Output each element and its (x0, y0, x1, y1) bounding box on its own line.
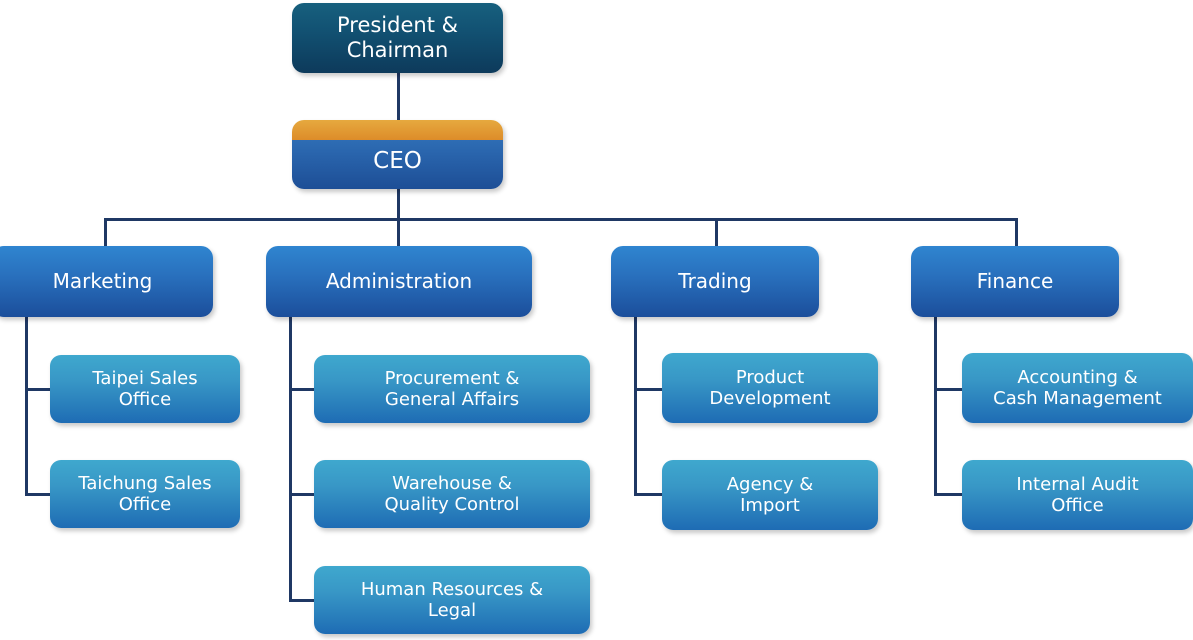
connector-trunk-administration (289, 316, 292, 601)
node-trading[interactable]: Trading (611, 246, 819, 317)
connector-stub-procurement-general-affairs (289, 388, 314, 391)
connector-drop-marketing (104, 218, 107, 246)
node-marketing[interactable]: Marketing (0, 246, 213, 317)
node-label: Finance (919, 270, 1111, 294)
connector-trunk-marketing (25, 316, 28, 496)
node-internal-audit-office[interactable]: Internal Audit Office (962, 460, 1193, 530)
connector-drop-finance (1015, 218, 1018, 246)
connector-stub-warehouse-quality-control (289, 493, 314, 496)
connector-trunk-finance (934, 316, 937, 496)
connector-stub-agency-import (634, 493, 662, 496)
node-president-chairman[interactable]: President & Chairman (292, 3, 503, 73)
node-label: President & Chairman (300, 13, 495, 63)
node-label: Product Development (670, 367, 870, 409)
node-label: Agency & Import (670, 474, 870, 516)
connector-stub-human-resources-legal (289, 599, 314, 602)
node-taipei-sales-office[interactable]: Taipei Sales Office (50, 355, 240, 423)
node-label: Procurement & General Affairs (322, 368, 582, 410)
node-label: Marketing (0, 270, 205, 294)
node-procurement-general-affairs[interactable]: Procurement & General Affairs (314, 355, 590, 423)
connector-drop-administration (397, 218, 400, 246)
connector-stub-accounting-cash-management (934, 388, 962, 391)
connector-department-bus (104, 218, 1018, 221)
node-ceo[interactable]: CEO (292, 120, 503, 189)
node-warehouse-quality-control[interactable]: Warehouse & Quality Control (314, 460, 590, 528)
node-label: Taipei Sales Office (58, 368, 232, 410)
node-administration[interactable]: Administration (266, 246, 532, 317)
connector-president-to-ceo (397, 72, 400, 122)
connector-trunk-trading (634, 316, 637, 496)
connector-stub-taichung-sales-office (25, 493, 50, 496)
node-label: Warehouse & Quality Control (322, 473, 582, 515)
connector-stub-internal-audit-office (934, 493, 962, 496)
node-accounting-cash-management[interactable]: Accounting & Cash Management (962, 353, 1193, 423)
node-label: Administration (274, 270, 524, 294)
node-human-resources-legal[interactable]: Human Resources & Legal (314, 566, 590, 634)
connector-drop-trading (715, 218, 718, 246)
node-label: Human Resources & Legal (322, 579, 582, 621)
node-label: Trading (619, 270, 811, 294)
connector-stub-product-development (634, 388, 662, 391)
node-label: Internal Audit Office (970, 474, 1185, 516)
node-label: Accounting & Cash Management (970, 367, 1185, 409)
node-product-development[interactable]: Product Development (662, 353, 878, 423)
node-finance[interactable]: Finance (911, 246, 1119, 317)
connector-stub-taipei-sales-office (25, 388, 50, 391)
node-agency-import[interactable]: Agency & Import (662, 460, 878, 530)
node-taichung-sales-office[interactable]: Taichung Sales Office (50, 460, 240, 528)
connector-ceo-stem (397, 188, 400, 218)
org-chart: President & Chairman CEO Marketing Admin… (0, 0, 1193, 640)
node-label: CEO (300, 134, 495, 175)
node-label: Taichung Sales Office (58, 473, 232, 515)
